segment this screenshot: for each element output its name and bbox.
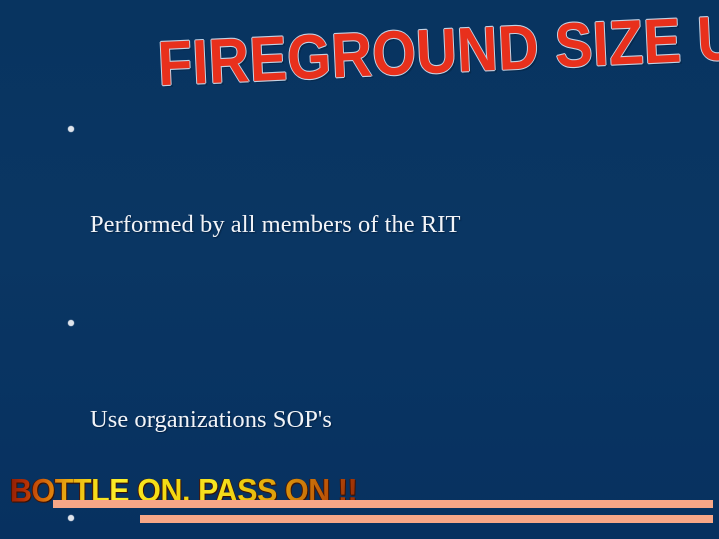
bullet-list: Performed by all members of the RIT Use … [62, 112, 692, 539]
accent-bar-top [53, 500, 713, 508]
accent-bar-bottom [140, 515, 713, 523]
list-item-label: Performed by all members of the RIT [90, 209, 692, 241]
list-item-label: Use organizations SOP's [90, 404, 692, 436]
slide-title-text: FIREGROUND SIZE UP [156, 5, 579, 105]
bullet-dot-icon [68, 320, 74, 326]
list-item: Performed by all members of the RIT [62, 112, 692, 306]
slide-canvas: FIREGROUND SIZE UP Performed by all memb… [0, 0, 719, 539]
bullet-dot-icon [68, 515, 74, 521]
slide-title-wordart: FIREGROUND SIZE UP [156, 9, 579, 104]
list-item: Use organizations SOP's [62, 306, 692, 500]
bullet-dot-icon [68, 126, 74, 132]
